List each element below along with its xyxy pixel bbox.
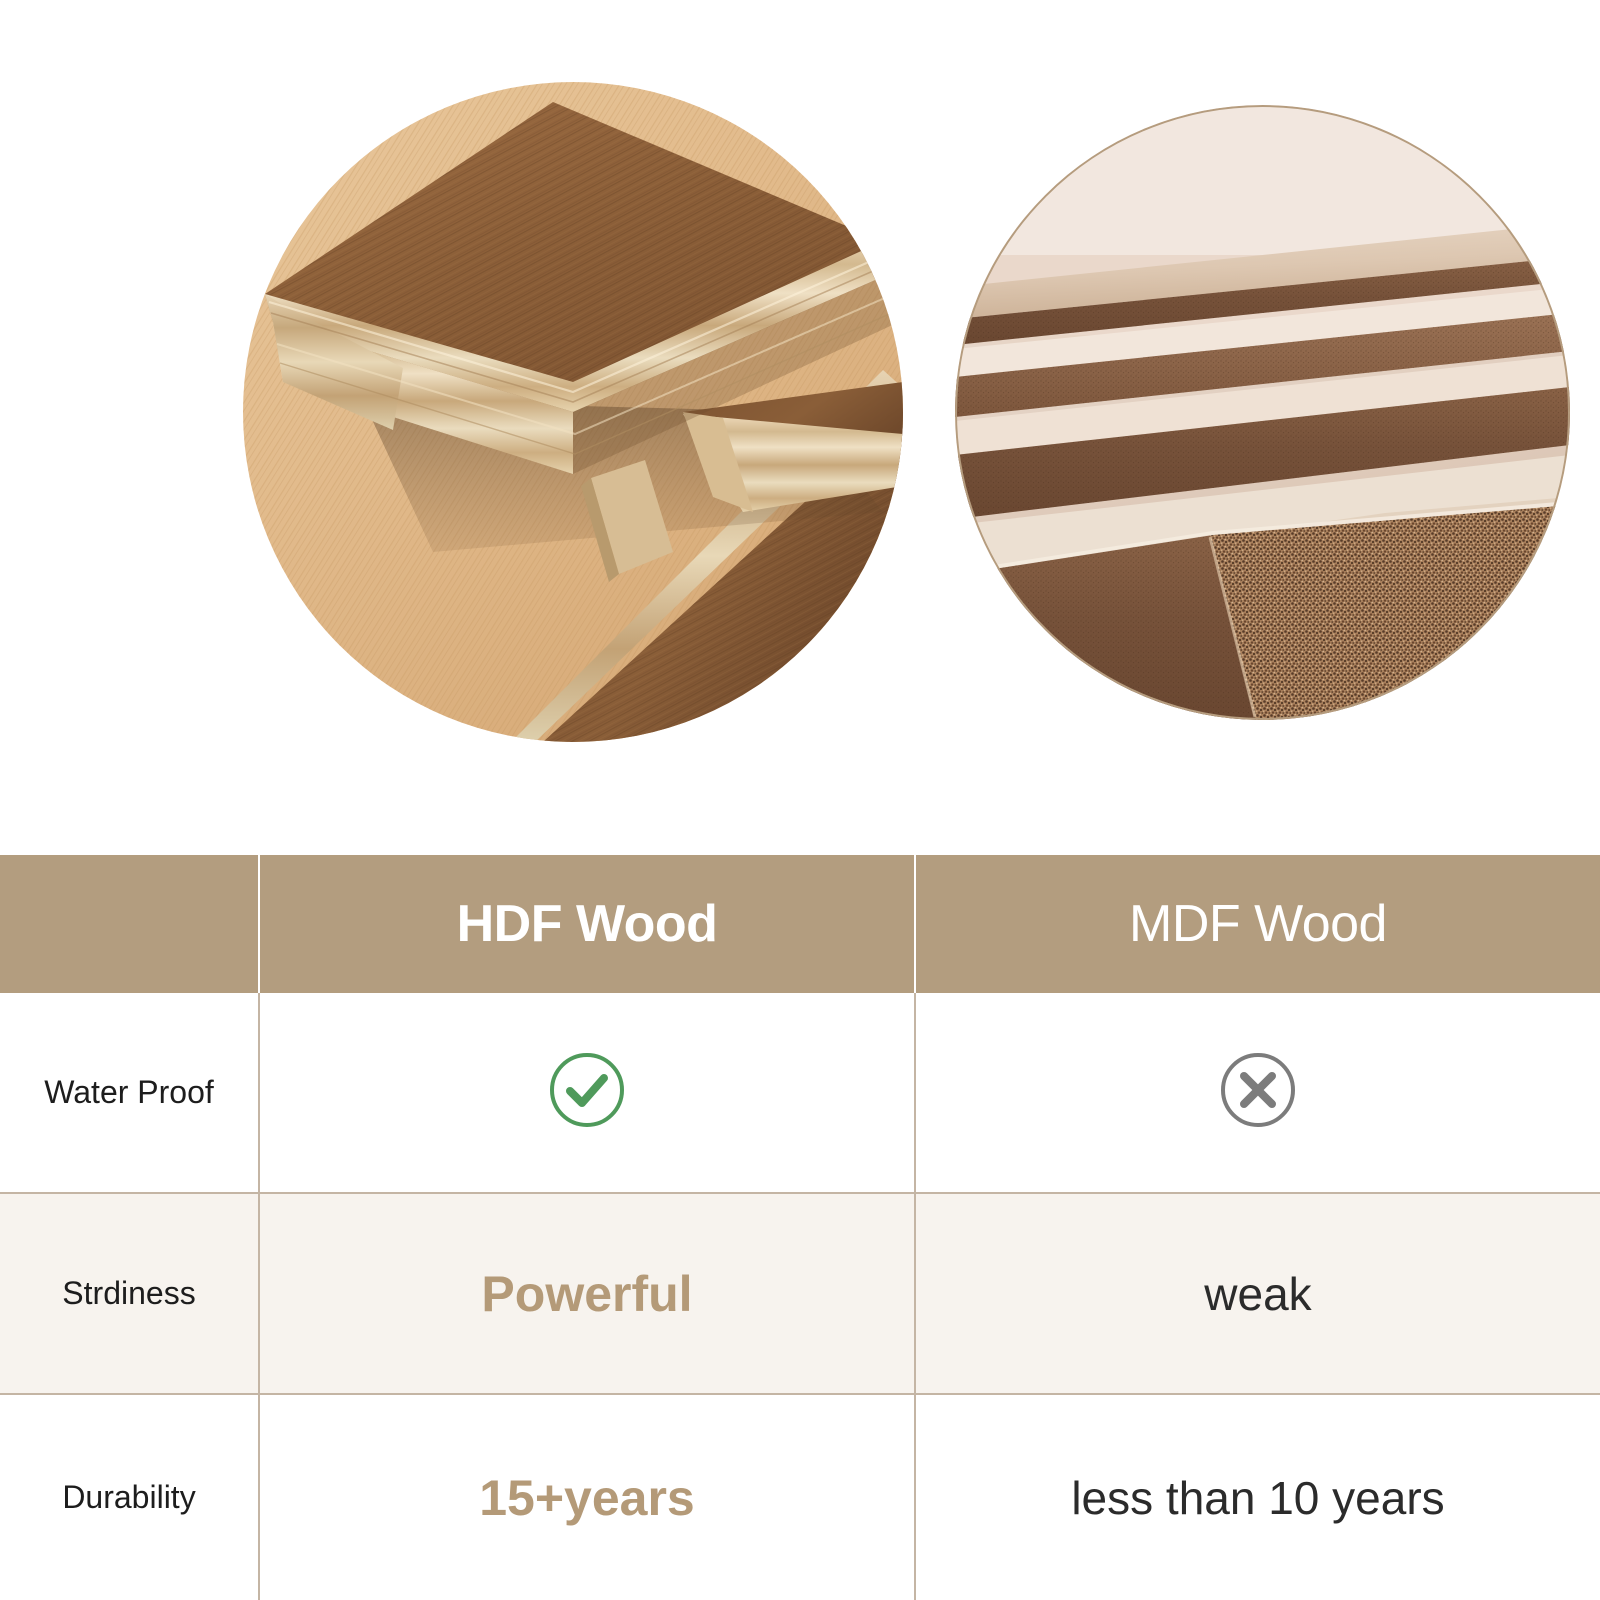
header-cell-mdf: MDF Wood xyxy=(915,855,1600,993)
table-row: Strdiness Powerful weak xyxy=(0,1193,1600,1394)
feature-label-water-proof: Water Proof xyxy=(0,1074,258,1111)
table-header-row: HDF Wood MDF Wood xyxy=(0,855,1600,993)
cell-mdf-water-proof xyxy=(915,993,1600,1193)
value-mdf-durability: less than 10 years xyxy=(916,1471,1600,1525)
header-cell-hdf: HDF Wood xyxy=(259,855,915,993)
header-label-mdf: MDF Wood xyxy=(916,898,1600,950)
cell-hdf-sturdiness: Powerful xyxy=(259,1193,915,1394)
feature-label-durability: Durability xyxy=(0,1479,258,1516)
hdf-vs-mdf-comparison-table: HDF Wood MDF Wood Water Proof xyxy=(0,855,1600,1600)
cell-mdf-durability: less than 10 years xyxy=(915,1394,1600,1600)
cross-circle-icon-glyph xyxy=(1217,1049,1299,1131)
value-hdf-durability: 15+years xyxy=(260,1469,914,1527)
hdf-plywood-boards-photo xyxy=(243,82,903,742)
hdf-photo-graphic xyxy=(243,82,903,742)
feature-label-sturdiness: Strdiness xyxy=(0,1275,258,1312)
check-circle-icon-glyph xyxy=(546,1049,628,1131)
header-cell-feature xyxy=(0,855,259,993)
cell-feature-durability: Durability xyxy=(0,1394,259,1600)
cell-hdf-durability: 15+years xyxy=(259,1394,915,1600)
value-hdf-sturdiness: Powerful xyxy=(260,1265,914,1323)
table-row: Water Proof xyxy=(0,993,1600,1193)
cell-mdf-sturdiness: weak xyxy=(915,1193,1600,1394)
hero-photo-area xyxy=(0,0,1600,855)
cell-hdf-water-proof xyxy=(259,993,915,1193)
table-row: Durability 15+years less than 10 years xyxy=(0,1394,1600,1600)
value-mdf-sturdiness: weak xyxy=(916,1267,1600,1321)
cross-circle-icon xyxy=(1217,1049,1299,1131)
header-label-hdf: HDF Wood xyxy=(260,898,914,950)
product-comparison-page: HDF Wood MDF Wood Water Proof xyxy=(0,0,1600,1600)
check-circle-icon xyxy=(546,1049,628,1131)
table-header: HDF Wood MDF Wood xyxy=(0,855,1600,993)
cell-feature-sturdiness: Strdiness xyxy=(0,1193,259,1394)
table-body: Water Proof xyxy=(0,993,1600,1600)
mdf-fiberboard-boards-photo xyxy=(955,105,1570,720)
mdf-photo-graphic xyxy=(955,105,1570,720)
cell-feature-water-proof: Water Proof xyxy=(0,993,259,1193)
